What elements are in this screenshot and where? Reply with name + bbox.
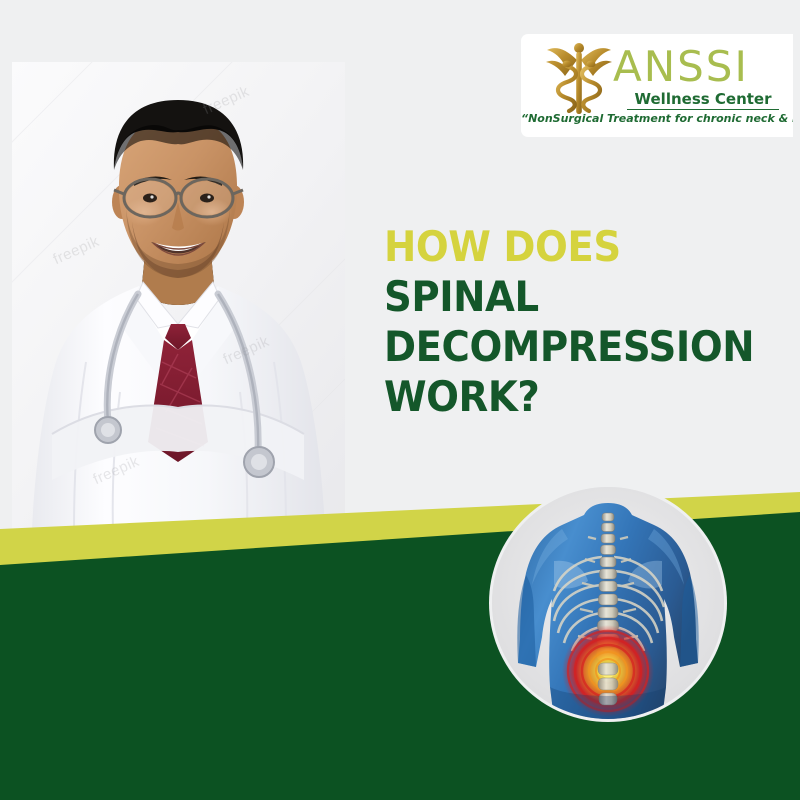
anssi-wellness-center-logo[interactable]: ANSSI Wellness Center “NonSurgical Treat… bbox=[521, 34, 793, 137]
headline-line-3: DECOMPRESSION bbox=[384, 322, 752, 372]
logo-tagline: “NonSurgical Treatment for chronic neck … bbox=[521, 112, 793, 125]
headline-line-4: WORK? bbox=[384, 372, 752, 422]
headline-line-1: HOW DOES bbox=[384, 222, 752, 272]
caduceus-icon bbox=[543, 40, 615, 118]
logo-brand-name: ANSSI bbox=[613, 46, 749, 88]
poster-canvas: freepik freepik freepik freepik bbox=[0, 0, 800, 800]
headline-line-2: SPINAL bbox=[384, 272, 752, 322]
logo-subtitle: Wellness Center bbox=[627, 90, 779, 110]
headline-block: HOW DOES SPINAL DECOMPRESSION WORK? bbox=[384, 222, 784, 422]
spinal-anatomy-illustration bbox=[492, 487, 724, 719]
